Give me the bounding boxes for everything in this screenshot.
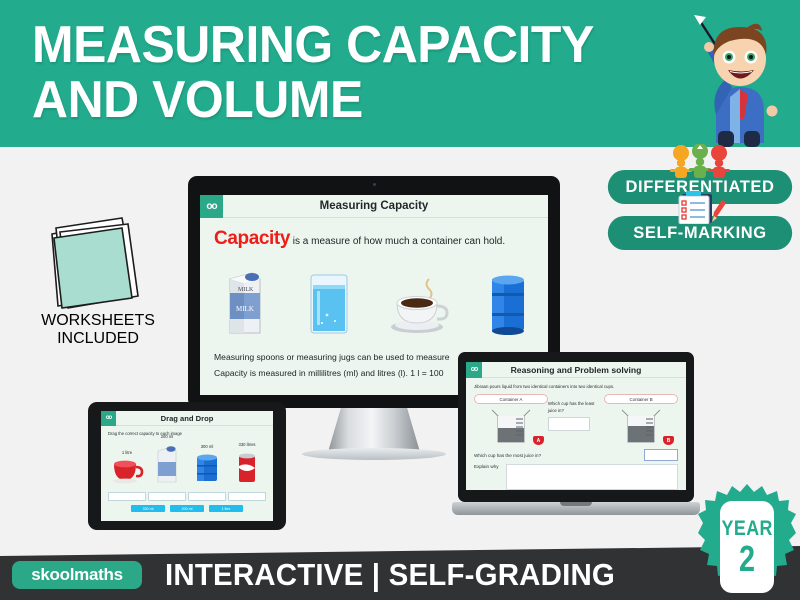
- beaker-icon: [616, 406, 666, 444]
- worksheets-caption: WORKSHEETS INCLUDED: [18, 312, 178, 348]
- drop-zone[interactable]: [188, 492, 226, 501]
- feature-badges: DIFFERENTIATED SELF-MARKING: [605, 170, 795, 262]
- page-title: MEASURING CAPACITY AND VOLUME: [32, 18, 694, 128]
- laptop-trackpad-notch: [560, 502, 592, 506]
- monitor-slide-body: Capacity is a measure of how much a cont…: [200, 218, 548, 349]
- skoolmaths-logo-icon: oo: [101, 411, 116, 426]
- tablet-screen: oo Drag and Drop Drag the correct capaci…: [101, 411, 273, 521]
- laptop-question-intro: Jibraan pours liquid from two identical …: [474, 384, 678, 389]
- milk-carton-icon: [154, 442, 180, 484]
- teacher-with-pointer-icon: [686, 15, 794, 147]
- answer-chip[interactable]: 200 ml: [170, 505, 204, 512]
- capacity-definition: Capacity is a measure of how much a cont…: [214, 228, 534, 250]
- most-juice-label: Which cup has the most juice in?: [474, 453, 644, 458]
- capacity-definition-text: is a measure of how much a container can…: [290, 236, 505, 247]
- drag-item-can[interactable]: 330 litres: [228, 442, 266, 501]
- answer-chip[interactable]: 330 ml: [131, 505, 165, 512]
- svg-text:MILK: MILK: [238, 287, 254, 293]
- drag-item-barrel-caption: 300 ml: [188, 444, 226, 450]
- drag-item-cup-caption: 1 litre: [108, 450, 146, 456]
- explain-textarea[interactable]: [506, 464, 678, 490]
- container-b-label: Container B: [604, 394, 678, 404]
- svg-text:MILK: MILK: [236, 305, 254, 313]
- thumbnail-stage: MEASURING CAPACITY AND VOLUME: [0, 0, 800, 600]
- container-b: Container B: [604, 394, 678, 445]
- drop-zone[interactable]: [108, 492, 146, 501]
- least-juice-question: Which cup has the least juice in?: [548, 394, 604, 431]
- explain-label: Explain why: [474, 464, 500, 490]
- tablet-slide-title: Drag and Drop: [116, 414, 258, 423]
- skoolmaths-logo-icon: oo: [200, 195, 223, 218]
- most-juice-question-row: Which cup has the most juice in?: [474, 449, 678, 461]
- red-cup-icon: [110, 458, 144, 484]
- blue-barrel-icon: [194, 452, 220, 484]
- container-comparison-row: Container A: [474, 394, 678, 445]
- laptop-slide-header: oo Reasoning and Problem solving: [466, 362, 686, 378]
- drag-item-cup[interactable]: 1 litre: [108, 450, 146, 501]
- monitor-slide-title: Measuring Capacity: [223, 200, 525, 212]
- skoolmaths-logo-icon: oo: [466, 362, 482, 378]
- year-number: 2: [739, 541, 755, 577]
- oil-barrel-icon: [488, 271, 528, 335]
- drag-item-barrel[interactable]: 300 ml: [188, 444, 226, 501]
- least-juice-label: Which cup has the least juice in?: [548, 400, 604, 414]
- badge-self-marking: SELF-MARKING: [605, 216, 795, 250]
- drag-item-can-caption: 330 litres: [228, 442, 266, 448]
- answer-chip[interactable]: 1 litre: [209, 505, 243, 512]
- checklist-pencil-icon: [672, 190, 728, 224]
- beaker-b-wrap: B: [616, 406, 666, 445]
- least-juice-input[interactable]: [548, 417, 590, 431]
- monitor-slide-header: oo Measuring Capacity: [200, 195, 548, 218]
- laptop-slide-body: Jibraan pours liquid from two identical …: [466, 378, 686, 490]
- tablet-item-row: 1 litre 200 ml: [108, 439, 266, 501]
- coffee-cup-icon: [389, 275, 451, 335]
- drop-zone[interactable]: [228, 492, 266, 501]
- tablet-instruction: Drag the correct capacity to each image: [108, 431, 266, 436]
- milk-carton-icon: MILK MILK: [222, 263, 268, 335]
- webcam-icon: [373, 183, 376, 186]
- cup-a-badge: A: [533, 436, 544, 445]
- worksheets-included: WORKSHEETS INCLUDED: [18, 212, 178, 348]
- cup-b-badge: B: [663, 436, 674, 445]
- beaker-icon: [486, 406, 536, 444]
- laptop-screen: oo Reasoning and Problem solving Jibraan…: [466, 362, 686, 490]
- water-glass-icon: [305, 269, 353, 335]
- monitor-stand-neck: [328, 408, 420, 452]
- tablet-device: oo Drag and Drop Drag the correct capaci…: [88, 402, 286, 530]
- vessel-illustrations: MILK MILK: [214, 253, 534, 339]
- container-a: Container A: [474, 394, 548, 445]
- drag-item-milk-caption: 200 ml: [148, 434, 186, 440]
- year-plaque: YEAR 2: [720, 501, 774, 593]
- three-people-icon: [664, 144, 736, 178]
- skoolmaths-logo: skoolmaths: [12, 561, 142, 589]
- laptop-slide-title: Reasoning and Problem solving: [482, 365, 670, 375]
- tablet-slide-header: oo Drag and Drop: [101, 411, 273, 426]
- footer-tagline: INTERACTIVE | SELF-GRADING: [165, 556, 659, 594]
- red-can-icon: [235, 450, 259, 484]
- most-juice-input[interactable]: [644, 449, 678, 461]
- header-banner: MEASURING CAPACITY AND VOLUME: [0, 0, 800, 147]
- year-label: YEAR: [721, 518, 772, 539]
- year-badge: YEAR 2: [698, 484, 796, 600]
- capacity-keyword: Capacity: [214, 228, 290, 249]
- beaker-a-wrap: A: [486, 406, 536, 445]
- tablet-slide-body: Drag the correct capacity to each image …: [101, 426, 273, 517]
- laptop-device: oo Reasoning and Problem solving Jibraan…: [452, 352, 700, 528]
- drop-zone[interactable]: [148, 492, 186, 501]
- container-a-label: Container A: [474, 394, 548, 404]
- drag-item-milk[interactable]: 200 ml: [148, 434, 186, 501]
- explain-row: Explain why: [474, 464, 678, 490]
- answer-chip-row: 330 ml 200 ml 1 litre: [108, 505, 266, 512]
- paper-stack-icon: [38, 212, 158, 312]
- monitor-stand-base: [302, 448, 446, 460]
